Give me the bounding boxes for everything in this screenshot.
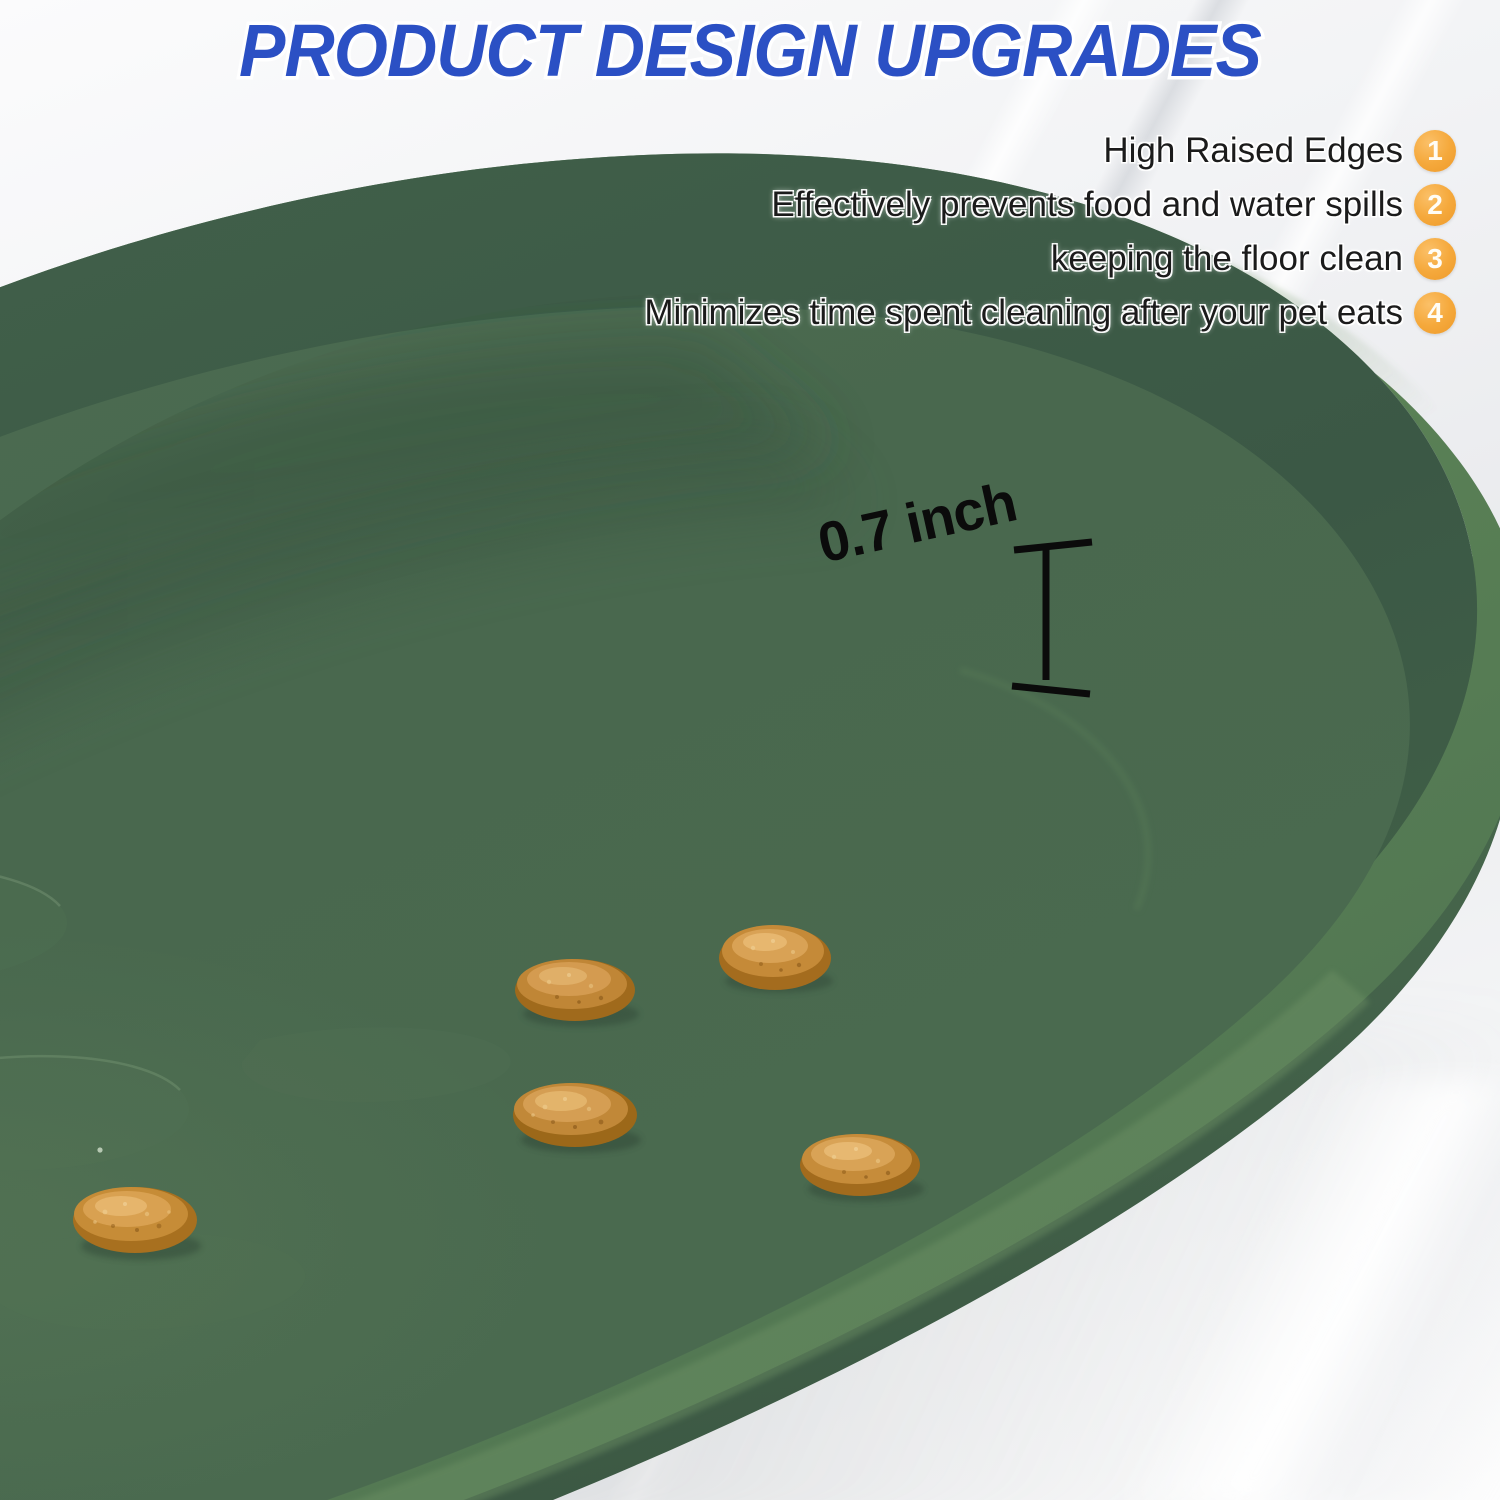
ibeam-top-cap bbox=[1014, 542, 1092, 550]
feature-item: High Raised Edges 1 bbox=[456, 126, 1456, 176]
feature-label: High Raised Edges bbox=[1103, 131, 1403, 171]
feature-number-badge: 1 bbox=[1414, 130, 1456, 172]
feature-label: keeping the floor clean bbox=[1051, 239, 1403, 279]
feature-item: Effectively prevents food and water spil… bbox=[456, 180, 1456, 230]
page-title-text: PRODUCT DESIGN UPGRADES bbox=[239, 9, 1261, 92]
kibble-highlight bbox=[95, 1196, 147, 1216]
feature-label: Effectively prevents food and water spil… bbox=[771, 185, 1403, 225]
silicone-tray bbox=[0, 150, 1500, 1500]
feature-label: Minimizes time spent cleaning after your… bbox=[644, 293, 1403, 333]
kibble-highlight bbox=[743, 933, 787, 951]
kibble-highlight bbox=[824, 1142, 872, 1160]
feature-number-badge: 4 bbox=[1414, 292, 1456, 334]
kibble-highlight bbox=[539, 967, 587, 985]
tray-illustration bbox=[0, 150, 1500, 1500]
feature-item: Minimizes time spent cleaning after your… bbox=[456, 288, 1456, 338]
water-droplet bbox=[97, 1147, 102, 1152]
kibble-highlight bbox=[535, 1091, 587, 1111]
feature-item: keeping the floor clean 3 bbox=[456, 234, 1456, 284]
product-marketing-image: 0.7 inch PRODUCT DESIGN UPGRADES High Ra… bbox=[0, 0, 1500, 1500]
page-title: PRODUCT DESIGN UPGRADES bbox=[45, 14, 1455, 88]
ibeam-bottom-cap bbox=[1012, 686, 1090, 694]
feature-list: High Raised Edges 1 Effectively prevents… bbox=[456, 126, 1456, 342]
feature-number-badge: 3 bbox=[1414, 238, 1456, 280]
dimension-ibeam-icon bbox=[1008, 528, 1100, 700]
feature-number-badge: 2 bbox=[1414, 184, 1456, 226]
